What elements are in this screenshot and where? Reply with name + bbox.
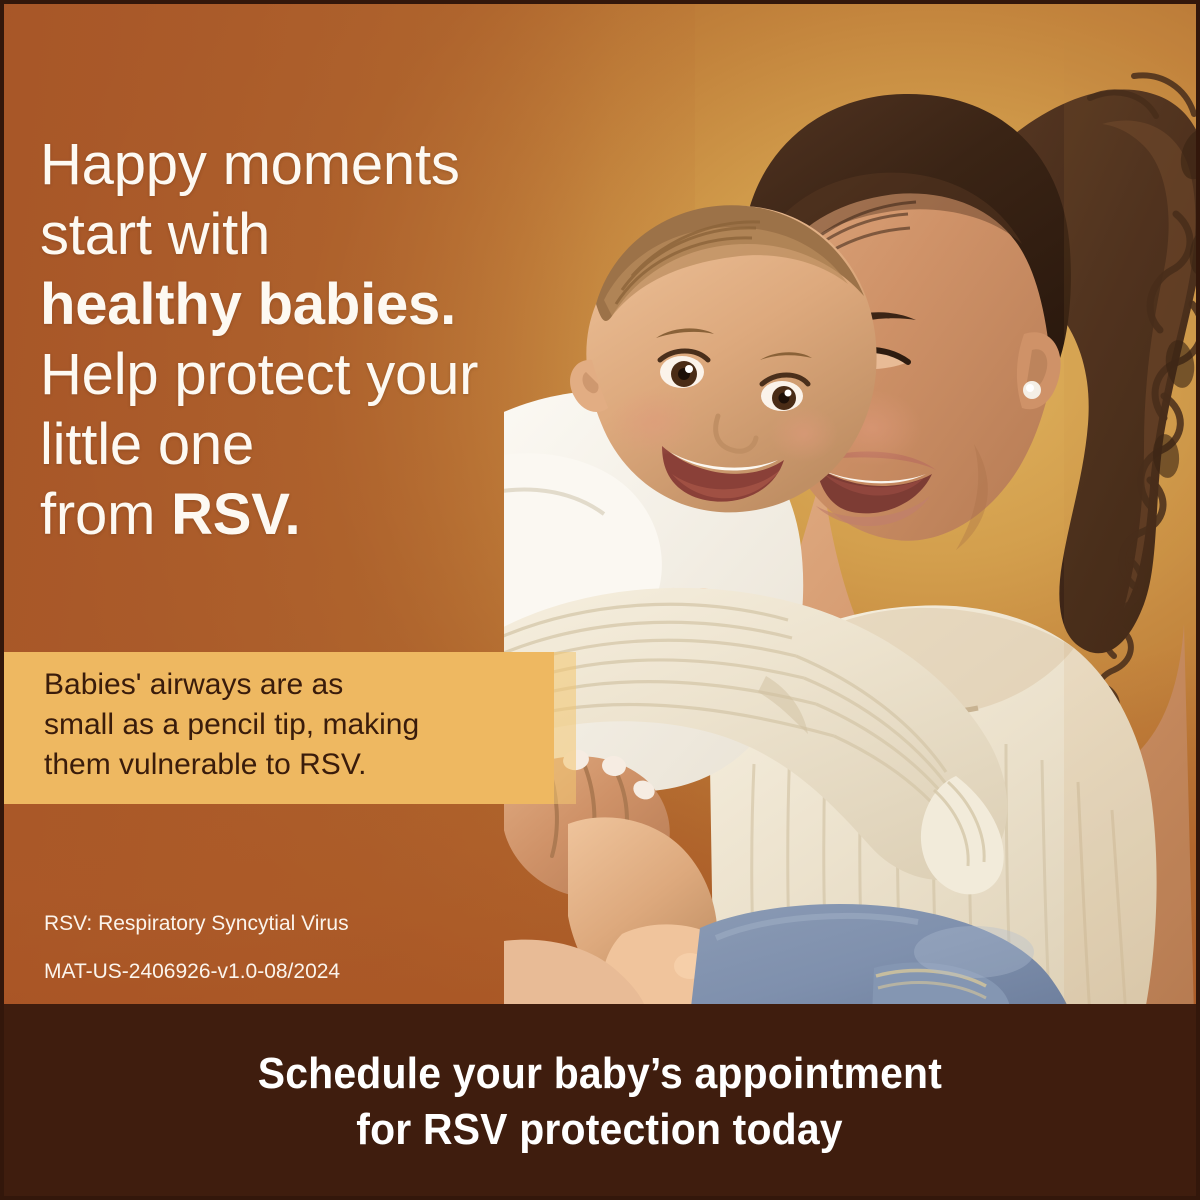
fineprint-code: MAT-US-2406926-v1.0-08/2024 — [44, 948, 349, 996]
headline-line-1: Happy moments — [40, 130, 580, 200]
headline-line-4: Help protect your — [40, 340, 580, 410]
mother-and-baby-photo — [504, 4, 1200, 1016]
headline-line-2: start with — [40, 200, 580, 270]
cta-line-1: Schedule your baby’s appointment — [258, 1046, 942, 1102]
callout-line-3: them vulnerable to RSV. — [44, 745, 564, 785]
fineprint-abbreviation: RSV: Respiratory Syncytial Virus — [44, 900, 349, 948]
cta-banner: Schedule your baby’s appointment for RSV… — [0, 1004, 1200, 1200]
headline: Happy moments start with healthy babies.… — [40, 130, 580, 550]
callout-line-1: Babies' airways are as — [44, 665, 564, 705]
headline-line-6-bold: RSV. — [171, 482, 300, 547]
headline-line-5: little one — [40, 410, 580, 480]
rsv-awareness-ad: Happy moments start with healthy babies.… — [0, 0, 1200, 1200]
headline-line-6-plain: from — [40, 482, 171, 547]
headline-line-6: from RSV. — [40, 480, 580, 550]
fineprint: RSV: Respiratory Syncytial Virus MAT-US-… — [44, 900, 349, 996]
headline-line-3: healthy babies. — [40, 270, 580, 340]
callout-text: Babies' airways are as small as a pencil… — [44, 665, 564, 785]
cta-line-2: for RSV protection today — [357, 1102, 843, 1158]
callout-line-2: small as a pencil tip, making — [44, 705, 564, 745]
